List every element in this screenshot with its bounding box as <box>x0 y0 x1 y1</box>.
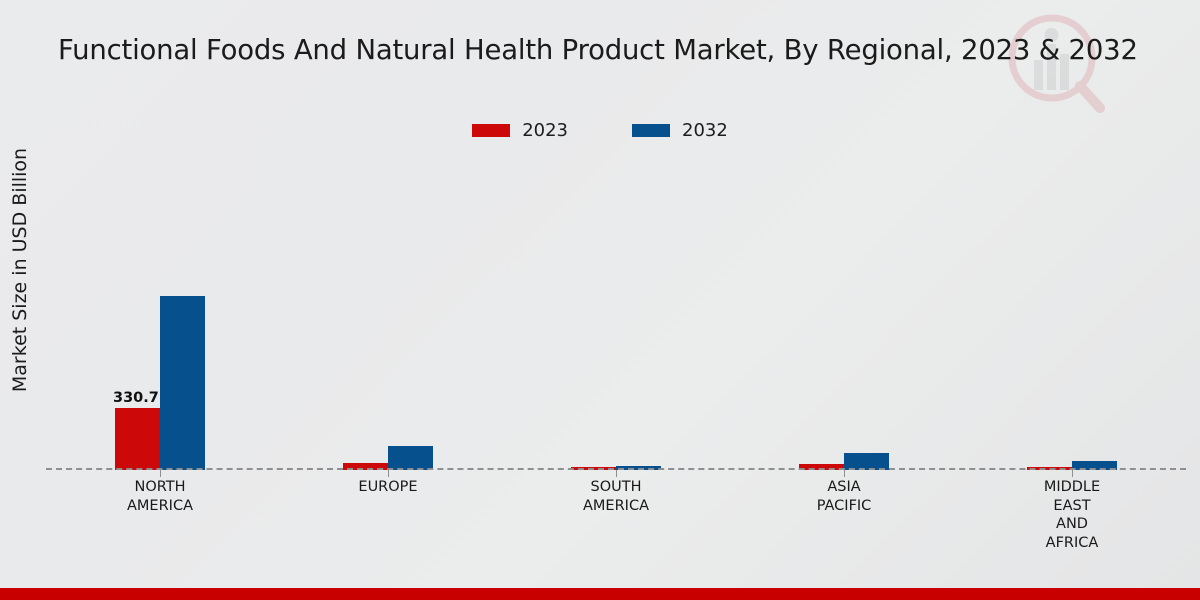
label-line: SOUTH <box>502 478 730 497</box>
label-line: AND <box>958 515 1186 534</box>
chart-legend: 2023 2032 <box>0 120 1200 141</box>
legend-label-2023: 2023 <box>522 120 568 141</box>
x-axis-label-middle-east-and-africa: MIDDLE EAST AND AFRICA <box>958 478 1186 552</box>
label-line: ASIA <box>730 478 958 497</box>
legend-swatch-2023-icon <box>472 124 510 137</box>
x-axis-tick <box>844 470 845 477</box>
label-line: EUROPE <box>274 478 502 497</box>
bar-group-middle-east-and-africa <box>958 160 1186 470</box>
bar-2032-europe[interactable] <box>388 446 433 470</box>
bar-groups: 330.72 <box>46 160 1186 470</box>
bar-2023-north-america[interactable]: 330.72 <box>115 408 160 470</box>
label-line: PACIFIC <box>730 497 958 516</box>
label-line: AFRICA <box>958 534 1186 553</box>
x-axis-label-north-america: NORTH AMERICA <box>46 478 274 552</box>
label-line: EAST <box>958 497 1186 516</box>
x-axis-label-europe: EUROPE <box>274 478 502 552</box>
plot-area: 330.72 <box>46 160 1186 470</box>
bar-group-europe <box>274 160 502 470</box>
legend-swatch-2032-icon <box>632 124 670 137</box>
y-axis-title-text: Market Size in USD Billion <box>9 148 31 392</box>
x-axis-labels: NORTH AMERICA EUROPE SOUTH AMERICA ASIA … <box>46 478 1186 552</box>
bar-pair <box>343 446 433 470</box>
label-line: MIDDLE <box>958 478 1186 497</box>
bar-pair: 330.72 <box>115 296 205 470</box>
x-axis-tick <box>616 470 617 477</box>
bar-group-south-america <box>502 160 730 470</box>
x-axis-tick <box>160 470 161 477</box>
footer-accent-bar <box>0 588 1200 600</box>
x-axis-tick <box>388 470 389 477</box>
chart-canvas: Functional Foods And Natural Health Prod… <box>0 0 1200 600</box>
x-axis-label-asia-pacific: ASIA PACIFIC <box>730 478 958 552</box>
label-line: AMERICA <box>502 497 730 516</box>
legend-label-2032: 2032 <box>682 120 728 141</box>
x-axis-tick <box>1072 470 1073 477</box>
legend-item-2032[interactable]: 2032 <box>632 120 728 141</box>
bar-group-north-america: 330.72 <box>46 160 274 470</box>
bar-2032-north-america[interactable] <box>160 296 205 470</box>
label-line: NORTH <box>46 478 274 497</box>
page-title: Functional Foods And Natural Health Prod… <box>58 32 1168 68</box>
x-axis-baseline <box>46 468 1186 470</box>
bar-group-asia-pacific <box>730 160 958 470</box>
legend-item-2023[interactable]: 2023 <box>472 120 568 141</box>
label-line: AMERICA <box>46 497 274 516</box>
x-axis-label-south-america: SOUTH AMERICA <box>502 478 730 552</box>
y-axis-title: Market Size in USD Billion <box>0 0 40 540</box>
